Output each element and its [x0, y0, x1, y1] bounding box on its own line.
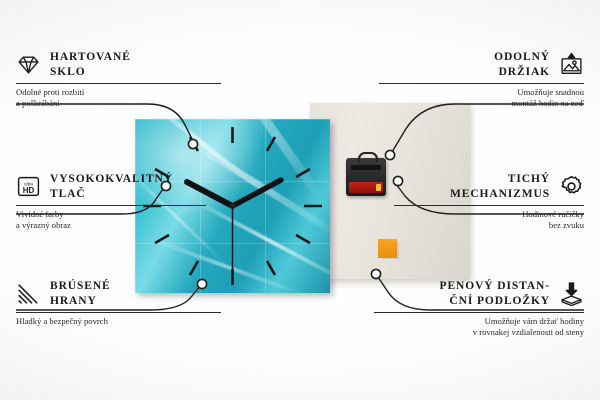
feature-title: ODOLNÝ DRŽIAK	[494, 50, 550, 79]
wall-hanger-icon	[559, 52, 584, 77]
feature-description: Odolné proti rozbití a poškrábání	[16, 87, 221, 109]
feature-title: BRÚSENÉ HRANY	[50, 279, 111, 308]
divider	[374, 312, 584, 313]
divider	[16, 312, 221, 313]
feature-description: Hladký a bezpečný povrch	[16, 316, 221, 327]
ultra-hd-icon: ultra HD	[16, 174, 41, 199]
divider	[16, 205, 206, 206]
wire-endpoint-glass	[188, 139, 197, 148]
feature-title: PENOVÝ DISTAN- ČNÍ PODLOŽKY	[440, 279, 550, 308]
feature-foam-spacers: PENOVÝ DISTAN- ČNÍ PODLOŽKY Umožňuje vám…	[374, 279, 584, 338]
feature-high-quality-print: ultra HD VYSOKOKVALITNÝ TLAČ Vividné far…	[16, 172, 206, 231]
wire-endpoint-holder	[385, 150, 394, 159]
feature-title: TICHÝ MECHANIZMUS	[450, 172, 550, 201]
divider	[16, 83, 221, 84]
feature-header: TICHÝ MECHANIZMUS	[394, 172, 584, 201]
feature-polished-edges: BRÚSENÉ HRANY Hladký a bezpečný povrch	[16, 279, 221, 327]
feature-header: BRÚSENÉ HRANY	[16, 279, 221, 308]
wire-holder	[392, 104, 584, 152]
feature-hardened-glass: HARTOVANÉ SKLO Odolné proti rozbití a po…	[16, 50, 221, 109]
feature-description: Vividné farby a výrazný obraz	[16, 209, 206, 231]
feature-header: HARTOVANÉ SKLO	[16, 50, 221, 79]
feature-silent-mechanism: TICHÝ MECHANIZMUS Hodinové ručičky bez z…	[394, 172, 584, 231]
feature-title: VYSOKOKVALITNÝ TLAČ	[50, 172, 173, 201]
feature-title: HARTOVANÉ SKLO	[50, 50, 131, 79]
feature-description: Hodinové ručičky bez zvuku	[394, 209, 584, 231]
wire-glass	[16, 104, 193, 141]
svg-text:HD: HD	[23, 186, 35, 195]
infographic-canvas: HARTOVANÉ SKLO Odolné proti rozbití a po…	[0, 0, 600, 400]
feature-header: PENOVÝ DISTAN- ČNÍ PODLOŽKY	[374, 279, 584, 308]
diamond-icon	[16, 52, 41, 77]
feature-header: ODOLNÝ DRŽIAK	[379, 50, 584, 79]
divider	[394, 205, 584, 206]
feature-header: ultra HD VYSOKOKVALITNÝ TLAČ	[16, 172, 206, 201]
feature-durable-holder: ODOLNÝ DRŽIAK Umožňuje snadnou montáž ho…	[379, 50, 584, 109]
feature-description: Umožňuje vám držať hodiny v rovnakej vzd…	[374, 316, 584, 338]
foam-spacer-icon	[559, 281, 584, 306]
divider	[379, 83, 584, 84]
feature-description: Umožňuje snadnou montáž hodin na zeď	[379, 87, 584, 109]
polished-edge-icon	[16, 281, 41, 306]
gear-icon	[559, 174, 584, 199]
wire-endpoint-foam	[371, 269, 380, 278]
